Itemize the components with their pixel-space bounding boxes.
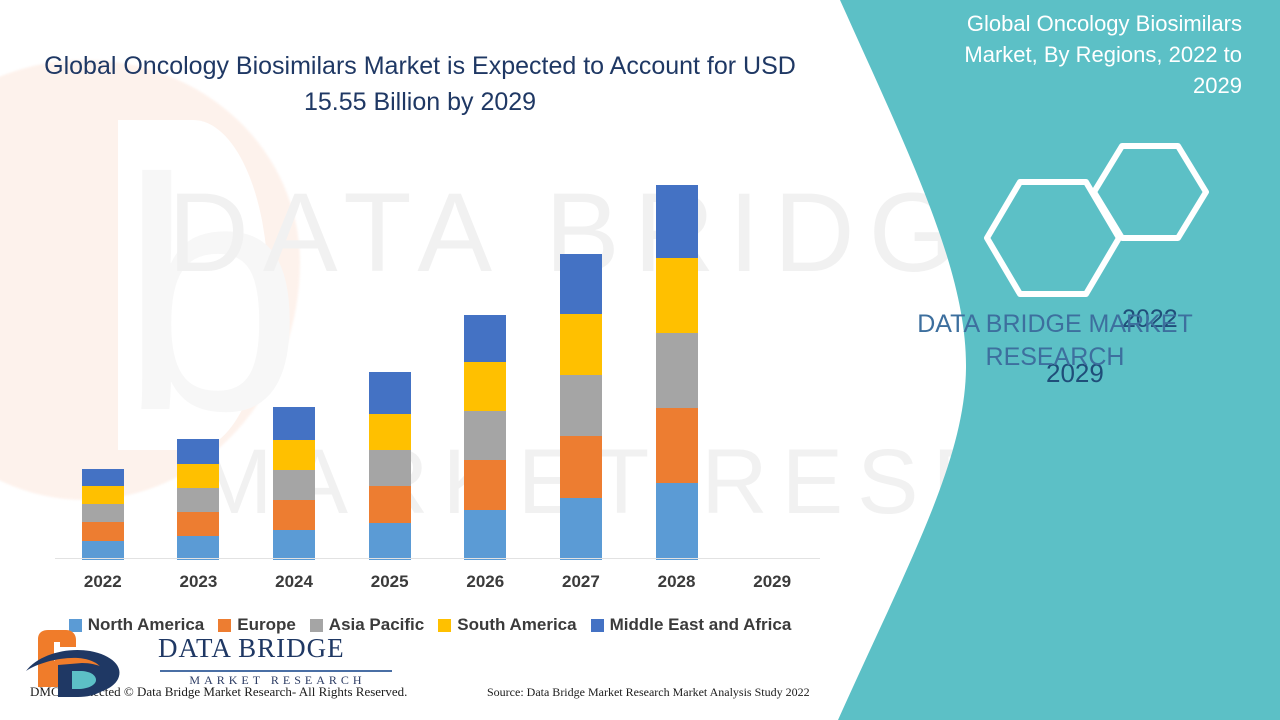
logo-name: DATA BRIDGE: [158, 633, 345, 664]
bar-segment: [177, 464, 219, 488]
bar-segment: [177, 439, 219, 464]
x-axis-tick-label: 2028: [629, 572, 725, 592]
bar-segment: [656, 483, 698, 560]
bar-segment: [369, 372, 411, 414]
bar-segment: [177, 512, 219, 536]
bar-segment: [560, 375, 602, 436]
x-axis-tick-label: 2025: [342, 572, 438, 592]
bar-segment: [464, 315, 506, 362]
bar-segment: [369, 523, 411, 560]
bar-group: [177, 439, 219, 560]
bar-segment: [82, 504, 124, 522]
bar-group: [273, 407, 315, 560]
bar-segment: [369, 450, 411, 486]
bar-segment: [464, 362, 506, 411]
bar-segment: [560, 314, 602, 375]
page-title: Global Oncology Biosimilars Market is Ex…: [40, 48, 800, 120]
bar-segment: [273, 500, 315, 530]
footer-source: Source: Data Bridge Market Research Mark…: [487, 685, 810, 700]
bar-segment: [560, 498, 602, 560]
x-axis-tick-label: 2023: [150, 572, 246, 592]
bar-segment: [464, 510, 506, 560]
bar-segment: [273, 407, 315, 440]
bar-segment: [82, 469, 124, 486]
bar-group: [656, 185, 698, 560]
bar-group: [82, 469, 124, 560]
logo-divider: [160, 670, 392, 672]
data-bridge-logo: DATA BRIDGE MARKET RESEARCH: [20, 625, 440, 705]
bar-segment: [82, 486, 124, 504]
bar-segment: [369, 486, 411, 523]
bar-segment: [273, 440, 315, 470]
x-axis-tick-label: 2027: [533, 572, 629, 592]
x-axis-line: [55, 558, 820, 559]
bar-segment: [273, 530, 315, 560]
bar-group: [560, 254, 602, 560]
logo-mark-icon: [20, 625, 150, 703]
bar-segment: [560, 254, 602, 314]
logo-tagline: MARKET RESEARCH: [160, 673, 395, 688]
bar-segment: [273, 470, 315, 500]
bar-segment: [656, 408, 698, 483]
x-axis-tick-labels: 20222023202420252026202720282029: [55, 572, 820, 602]
legend-swatch-icon: [591, 619, 604, 632]
bar-segment: [464, 460, 506, 510]
bar-segment: [177, 488, 219, 512]
bar-segment: [656, 333, 698, 408]
x-axis-tick-label: 2022: [55, 572, 151, 592]
legend-item[interactable]: Middle East and Africa: [591, 615, 792, 635]
legend-swatch-icon: [438, 619, 451, 632]
bar-segment: [656, 258, 698, 333]
stacked-bar-chart: [55, 150, 820, 560]
legend-item[interactable]: South America: [438, 615, 576, 635]
chart-pane: Global Oncology Biosimilars Market is Ex…: [0, 0, 860, 720]
x-axis-tick-label: 2024: [246, 572, 342, 592]
teal-panel-shape: [820, 0, 1280, 720]
x-axis-tick-label: 2026: [437, 572, 533, 592]
bar-segment: [177, 536, 219, 560]
bar-group: [369, 372, 411, 560]
bar-segment: [560, 436, 602, 498]
bar-segment: [464, 411, 506, 460]
bar-segment: [369, 414, 411, 450]
bar-group: [464, 315, 506, 560]
bar-segment: [82, 522, 124, 541]
legend-label: South America: [457, 615, 576, 635]
legend-label: Middle East and Africa: [610, 615, 792, 635]
x-axis-tick-label: 2029: [724, 572, 820, 592]
bar-segment: [656, 185, 698, 258]
infographic-root: b DATA BRIDGE MARKET RESEARCH Global Onc…: [0, 0, 1280, 720]
